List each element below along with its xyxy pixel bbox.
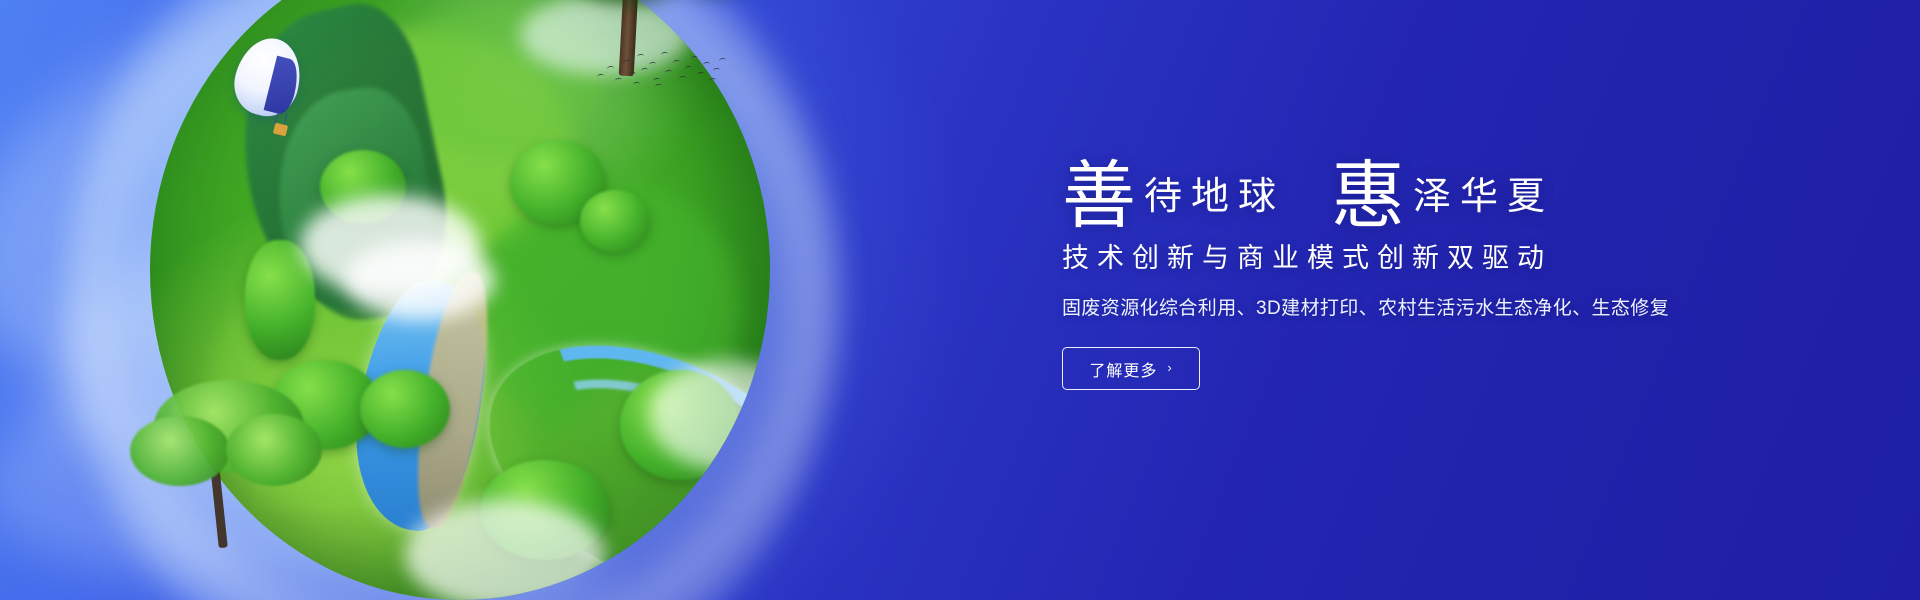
bird-icon	[623, 60, 631, 66]
bird-icon	[679, 76, 687, 82]
tree-canopy	[580, 190, 650, 252]
bird-icon	[597, 74, 605, 80]
chevron-right-icon: ›	[1167, 360, 1172, 375]
bird-icon	[685, 66, 693, 72]
bird-icon	[641, 68, 649, 74]
bird-icon	[697, 72, 705, 78]
learn-more-label: 了解更多	[1089, 357, 1157, 381]
bird-icon	[653, 78, 661, 84]
bird-icon	[629, 72, 637, 78]
bird-icon	[665, 70, 673, 76]
hero-copy: 善待地球惠泽华夏 技术创新与商业模式创新双驱动 固废资源化综合利用、3D建材打印…	[1062, 140, 1762, 390]
bird-icon	[719, 58, 727, 64]
hot-air-balloon-icon	[236, 38, 306, 148]
birds-icon	[595, 48, 725, 92]
headline-rest-2: 泽华夏	[1405, 178, 1554, 226]
bird-icon	[655, 84, 663, 90]
tree-canopy	[360, 370, 450, 448]
small-tree-icon	[130, 370, 330, 570]
hero-banner: 善待地球惠泽华夏 技术创新与商业模式创新双驱动 固废资源化综合利用、3D建材打印…	[0, 0, 1920, 600]
headline-rest-1: 待地球	[1136, 178, 1285, 226]
learn-more-button[interactable]: 了解更多 ›	[1062, 347, 1200, 390]
bird-icon	[633, 82, 641, 88]
balloon-basket	[273, 123, 288, 137]
bird-icon	[713, 68, 721, 74]
hero-subtitle: 技术创新与商业模式创新双驱动	[1062, 236, 1762, 275]
headline-big-char-1: 善	[1062, 160, 1136, 234]
hero-description: 固废资源化综合利用、3D建材打印、农村生活污水生态净化、生态修复	[1062, 293, 1762, 320]
cloud	[345, 240, 495, 320]
bird-icon	[637, 54, 645, 60]
bird-icon	[703, 62, 711, 68]
cloud	[405, 500, 605, 600]
bird-icon	[615, 78, 623, 84]
headline-big-char-2: 惠	[1331, 160, 1405, 234]
tree-foliage	[226, 414, 322, 486]
bird-icon	[649, 62, 657, 68]
bird-icon	[607, 66, 615, 72]
bird-icon	[661, 52, 669, 58]
bird-icon	[673, 60, 681, 66]
bird-icon	[709, 78, 717, 84]
bird-icon	[691, 56, 699, 62]
tree-foliage	[130, 416, 230, 486]
page-title: 善待地球惠泽华夏	[1062, 140, 1762, 226]
